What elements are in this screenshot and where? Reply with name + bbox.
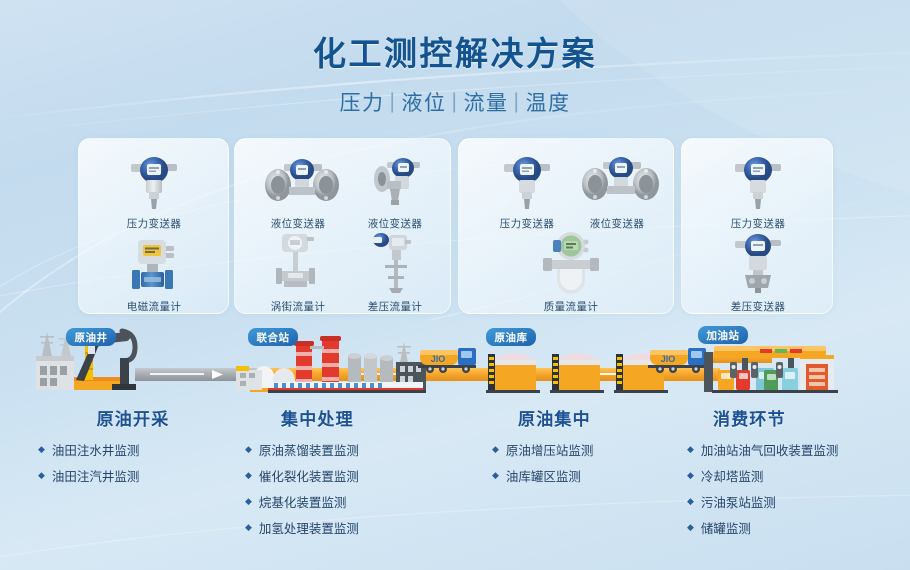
illustration-gas-station	[704, 346, 838, 393]
product-card-mass-flow[interactable]: 压力变送器	[458, 138, 674, 314]
bullet-label: 油库罐区监测	[506, 468, 581, 486]
diamond-bullet-icon: ◆	[245, 520, 252, 535]
subtitle-separator-2: |	[452, 90, 459, 114]
product-label: 液位变送器	[347, 216, 443, 231]
product-label: 压力变送器	[710, 216, 806, 231]
stage-bullet-list: ◆ 加油站油气回收装置监测 ◆ 冷却塔监测 ◆ 污油泵站监测 ◆ 储罐监测	[665, 442, 900, 539]
diamond-bullet-icon: ◆	[245, 468, 252, 483]
list-item: ◆ 油田注水井监测	[38, 442, 228, 460]
diamond-bullet-icon: ◆	[245, 442, 252, 457]
product-label: 压力变送器	[106, 216, 202, 231]
product-pressure-transmitter[interactable]: 压力变送器	[710, 149, 806, 231]
product-mass-flowmeter[interactable]: 质量流量计	[523, 232, 619, 314]
list-item: ◆ 原油增压站监测	[492, 442, 670, 460]
diamond-bullet-icon: ◆	[492, 468, 499, 483]
product-card-row: 压力变送器	[0, 138, 910, 316]
bullet-label: 储罐监测	[701, 520, 751, 538]
subtitle-separator-3: |	[513, 90, 520, 114]
diamond-bullet-icon: ◆	[687, 494, 694, 509]
list-item: ◆ 加氢处理装置监测	[245, 520, 455, 538]
list-item: ◆ 原油蒸馏装置监测	[245, 442, 455, 460]
product-card-pressure-flow[interactable]: 压力变送器	[78, 138, 229, 314]
svg-text:JIO: JIO	[661, 354, 676, 364]
stage-title: 原油开采	[38, 405, 228, 430]
badge-label-oil-well: 原油井	[66, 330, 116, 345]
product-card-level-flow[interactable]: 液位变送器	[234, 138, 451, 314]
bullet-label: 加油站油气回收装置监测	[701, 442, 839, 460]
stage-extraction: 原油开采 ◆ 油田注水井监测 ◆ 油田注汽井监测	[38, 405, 228, 494]
list-item: ◆ 油田注汽井监测	[38, 468, 228, 486]
stage-bullet-list: ◆ 原油增压站监测 ◆ 油库罐区监测	[470, 442, 670, 486]
stage-storage: 原油集中 ◆ 原油增压站监测 ◆ 油库罐区监测	[470, 405, 670, 494]
product-pressure-transmitter[interactable]: 压力变送器	[106, 149, 202, 231]
product-level-transmitter-flange[interactable]: 液位变送器	[250, 149, 346, 231]
bullet-label: 加氢处理装置监测	[259, 520, 359, 538]
product-label: 差压流量计	[347, 299, 443, 314]
pressure-transmitter-icon	[106, 149, 202, 211]
subtitle-part-level: 液位	[402, 87, 447, 117]
stage-title: 集中处理	[245, 405, 455, 430]
diamond-bullet-icon: ◆	[687, 520, 694, 535]
bullet-label: 原油增压站监测	[506, 442, 594, 460]
list-item: ◆ 催化裂化装置监测	[245, 468, 455, 486]
product-label: 液位变送器	[569, 216, 665, 231]
electromagnetic-flowmeter-icon	[106, 232, 202, 294]
bullet-label: 油田注水井监测	[52, 442, 140, 460]
bullet-label: 油田注汽井监测	[52, 468, 140, 486]
stage-processing: 集中处理 ◆ 原油蒸馏装置监测 ◆ 催化裂化装置监测 ◆ 烷基化装置监测 ◆ 加…	[245, 405, 455, 547]
illustration-storage-tanks	[486, 354, 668, 394]
diamond-bullet-icon: ◆	[492, 442, 499, 457]
mass-flowmeter-icon	[523, 232, 619, 294]
product-electromagnetic-flowmeter[interactable]: 电磁流量计	[106, 232, 202, 314]
product-label: 质量流量计	[523, 299, 619, 314]
pressure-transmitter-icon	[479, 149, 575, 211]
product-label: 差压变送器	[710, 299, 806, 314]
bullet-label: 原油蒸馏装置监测	[259, 442, 359, 460]
badge-label-crude-depot: 原油库	[486, 330, 536, 345]
product-label: 涡街流量计	[250, 299, 346, 314]
diamond-bullet-icon: ◆	[687, 442, 694, 457]
level-transmitter-flange-icon	[569, 149, 665, 211]
product-card-differential[interactable]: 压力变送器	[681, 138, 833, 314]
product-label: 压力变送器	[479, 216, 575, 231]
subtitle-part-temperature: 温度	[525, 87, 570, 117]
diamond-bullet-icon: ◆	[245, 494, 252, 509]
vortex-flowmeter-icon	[250, 232, 346, 294]
differential-pressure-transmitter-icon	[710, 232, 806, 294]
diamond-bullet-icon: ◆	[38, 442, 45, 457]
product-pressure-transmitter[interactable]: 压力变送器	[479, 149, 575, 231]
level-transmitter-flange-icon	[250, 149, 346, 211]
bullet-label: 污油泵站监测	[701, 494, 776, 512]
list-item: ◆ 烷基化装置监测	[245, 494, 455, 512]
badge-label-joint-station: 联合站	[248, 330, 298, 345]
stage-bullet-list: ◆ 原油蒸馏装置监测 ◆ 催化裂化装置监测 ◆ 烷基化装置监测 ◆ 加氢处理装置…	[245, 442, 455, 539]
subtitle-part-pressure: 压力	[340, 87, 385, 117]
diamond-bullet-icon: ◆	[38, 468, 45, 483]
list-item: ◆ 加油站油气回收装置监测	[687, 442, 900, 460]
subtitle-part-flow: 流量	[463, 87, 508, 117]
product-level-transmitter-flange[interactable]: 液位变送器	[569, 149, 665, 231]
page-header: 化工测控解决方案 压力 | 液位 | 流量 | 温度	[0, 34, 910, 117]
stage-bullet-list: ◆ 油田注水井监测 ◆ 油田注汽井监测	[38, 442, 228, 486]
product-level-transmitter-single[interactable]: 液位变送器	[347, 149, 443, 231]
product-differential-pressure-flowmeter[interactable]: 差压流量计	[347, 232, 443, 314]
subtitle-separator-1: |	[390, 90, 397, 114]
product-vortex-flowmeter[interactable]: 涡街流量计	[250, 232, 346, 314]
diamond-bullet-icon: ◆	[687, 468, 694, 483]
list-item: ◆ 污油泵站监测	[687, 494, 900, 512]
bullet-label: 烷基化装置监测	[259, 494, 347, 512]
svg-text:JIO: JIO	[431, 354, 446, 364]
bullet-label: 催化裂化装置监测	[259, 468, 359, 486]
product-label: 液位变送器	[250, 216, 346, 231]
list-item: ◆ 储罐监测	[687, 520, 900, 538]
pressure-transmitter-icon	[710, 149, 806, 211]
differential-pressure-flowmeter-icon	[347, 232, 443, 294]
level-transmitter-single-icon	[347, 149, 443, 211]
product-label: 电磁流量计	[106, 299, 202, 314]
bullet-label: 冷却塔监测	[701, 468, 764, 486]
subtitle-row: 压力 | 液位 | 流量 | 温度	[0, 87, 910, 117]
badge-label-gas-station: 加油站	[698, 328, 748, 343]
list-item: ◆ 油库罐区监测	[492, 468, 670, 486]
page-title: 化工测控解决方案	[0, 34, 910, 74]
stage-title: 消费环节	[665, 405, 900, 430]
stage-title: 原油集中	[470, 405, 670, 430]
list-item: ◆ 冷却塔监测	[687, 468, 900, 486]
product-differential-pressure-transmitter[interactable]: 差压变送器	[710, 232, 806, 314]
stage-consumption: 消费环节 ◆ 加油站油气回收装置监测 ◆ 冷却塔监测 ◆ 污油泵站监测 ◆ 储罐…	[665, 405, 900, 547]
